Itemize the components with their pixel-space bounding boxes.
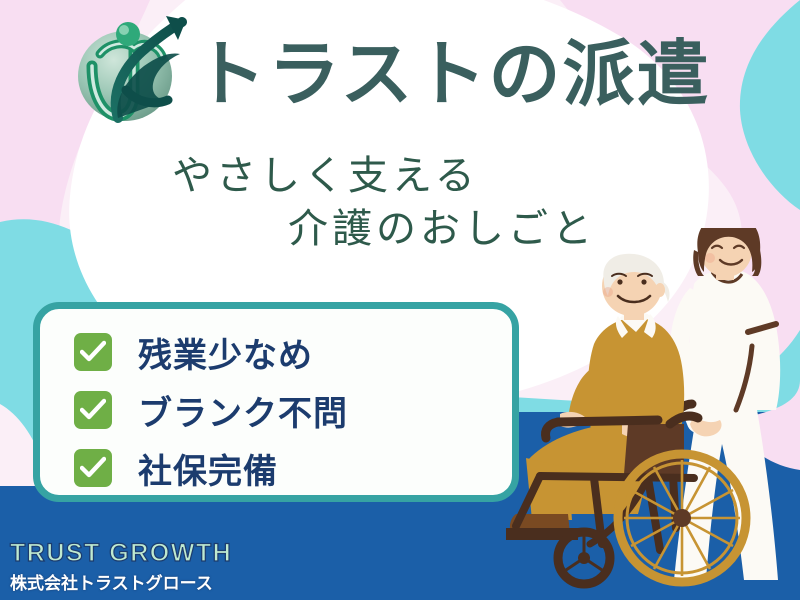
- brand-name-japanese: 株式会社トラストグロース: [10, 569, 270, 594]
- feature-list-card: 残業少なめ ブランク不問 社保完備: [33, 302, 519, 502]
- poster-canvas: トラストの派遣 やさしく支える 介護のおしごと 残業少なめ ブランク不問: [0, 0, 800, 600]
- header: トラストの派遣: [62, 14, 742, 132]
- subtitle-line-1: やさしく支える: [172, 143, 479, 201]
- feature-label: ブランク不問: [138, 386, 348, 435]
- feature-label: 社保完備: [138, 444, 278, 493]
- check-mark-icon: [74, 391, 112, 429]
- list-item: 残業少なめ: [74, 323, 512, 381]
- check-mark-icon: [74, 449, 112, 487]
- brand-name-english: TRUST GROWTH: [10, 539, 270, 568]
- list-item: 社保完備: [74, 439, 512, 497]
- list-item: ブランク不問: [74, 381, 512, 439]
- check-mark-icon: [74, 333, 112, 371]
- trust-growth-emblem-icon: [62, 14, 188, 132]
- company-brand-lockup: TRUST GROWTH 株式会社トラストグロース: [10, 539, 270, 594]
- feature-label: 残業少なめ: [138, 328, 313, 377]
- page-title: トラストの派遣: [194, 39, 711, 111]
- caregiver-pushing-wheelchair-illustration: [498, 228, 800, 600]
